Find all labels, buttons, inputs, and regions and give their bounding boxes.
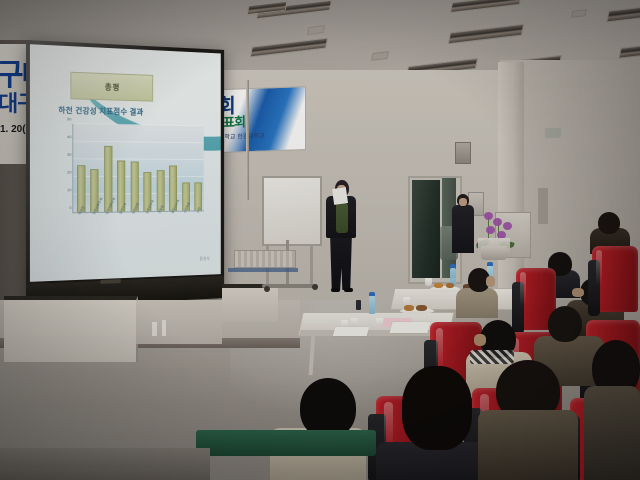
banner-right-line3: 대학교 한경대학교 xyxy=(219,131,265,142)
chart-y-tick-label: 20 xyxy=(67,169,71,174)
floor-object xyxy=(162,320,166,336)
floor-object xyxy=(152,322,157,336)
slide-header-label: 총평 xyxy=(105,82,120,93)
ceiling-vent-icon xyxy=(571,9,587,18)
banner-right-line2: 표회 xyxy=(223,111,245,131)
ceiling-light-icon xyxy=(606,5,640,22)
chart-y-tick-label: 30 xyxy=(67,152,71,157)
audience-member-face xyxy=(474,334,486,346)
audience-member-face xyxy=(486,276,495,287)
caster-wheel-icon xyxy=(264,286,270,292)
chart-y-tick-label: 0 xyxy=(69,205,71,210)
snack-food xyxy=(404,305,414,311)
ceiling-vent-icon xyxy=(371,51,389,61)
chart-x-tick-label: 신천 xyxy=(195,206,201,213)
entrance-door-opening[interactable] xyxy=(412,180,440,278)
audience-member-scarf xyxy=(470,350,514,364)
presenter-shoe xyxy=(344,288,353,292)
presentation-slide: 총평 하천 건강성 지표점수 결과 01020304050하양천남천상류수계남천… xyxy=(30,44,221,282)
plant-pot xyxy=(481,246,507,260)
auditorium-presentation-photo: 구대 대구 · 1. 20(금) 1 표회 표회 대학교 한경대학교 총평 하천… xyxy=(0,0,640,480)
chart-y-tick-label: 10 xyxy=(67,187,71,192)
chart-y-tick-label: 50 xyxy=(67,116,71,121)
wall-marking xyxy=(545,128,561,138)
bottle-cap-icon xyxy=(487,262,493,266)
ceiling-light-icon xyxy=(450,0,522,13)
snack-food xyxy=(446,283,454,288)
paper-cup xyxy=(425,278,432,286)
wall-trim-strip xyxy=(228,268,298,272)
slide-logo: 환경부 xyxy=(200,256,210,262)
radiator xyxy=(234,250,296,268)
audience-member-body xyxy=(456,288,498,318)
orchid-flower xyxy=(503,222,512,230)
presenter-shoe xyxy=(331,288,340,292)
wall-panel xyxy=(538,188,548,224)
audience-member-head xyxy=(548,306,582,342)
projection-screen-surface: 총평 하천 건강성 지표점수 결과 01020304050하양천남천상류수계남천… xyxy=(30,44,221,282)
bottle-cap-icon xyxy=(450,264,456,268)
projection-screen: 총평 하천 건강성 지표점수 결과 01020304050하양천남천상류수계남천… xyxy=(26,40,224,308)
ceiling-light-icon xyxy=(250,38,329,58)
stage-wall-recess xyxy=(136,300,222,344)
audience-member-body xyxy=(584,386,640,480)
slide-header-box: 총평 xyxy=(70,72,153,102)
water-bottle xyxy=(369,296,375,314)
presenter-handout-paper xyxy=(332,187,348,205)
snack-food xyxy=(416,305,427,311)
handout-papers xyxy=(333,327,370,336)
orchid-flower xyxy=(493,218,502,226)
ceiling-light-icon xyxy=(618,44,640,59)
front-row-barrier xyxy=(196,430,376,456)
foreground-floor xyxy=(0,448,210,480)
audience-member-head xyxy=(300,378,356,438)
attendee-near-door-body xyxy=(452,205,474,253)
bottle-cap-icon xyxy=(369,292,375,296)
flipchart-base xyxy=(262,284,318,288)
bar-chart-plot-area: 01020304050하양천남천상류수계남천하류수계청천수계남천본류금호강수계진… xyxy=(72,123,203,213)
wall-speaker xyxy=(455,142,471,164)
beverage-can xyxy=(356,300,361,310)
handout-papers xyxy=(389,322,430,333)
stage-cabinet-left xyxy=(4,296,138,362)
attendee-near-door-face xyxy=(459,198,467,206)
caster-wheel-icon xyxy=(312,284,318,290)
orchid-flower xyxy=(484,212,493,220)
banner-pole xyxy=(246,80,249,200)
ceiling-light-icon xyxy=(448,24,525,45)
ceiling-vent-icon xyxy=(307,25,325,35)
paper-cup xyxy=(351,318,358,326)
chart-gridline xyxy=(73,140,203,143)
chart-y-tick-label: 40 xyxy=(67,134,71,139)
audience-member-head xyxy=(598,212,620,234)
audience-member-head xyxy=(402,366,472,450)
flipchart-whiteboard xyxy=(262,176,322,246)
audience-member-face xyxy=(572,288,584,297)
chart-gridline xyxy=(73,158,203,160)
audience-member-body xyxy=(478,410,578,480)
presenter-shirt xyxy=(336,203,348,233)
paper-cup xyxy=(403,297,410,305)
orchid-flower xyxy=(486,226,495,234)
snack-food xyxy=(434,283,443,288)
